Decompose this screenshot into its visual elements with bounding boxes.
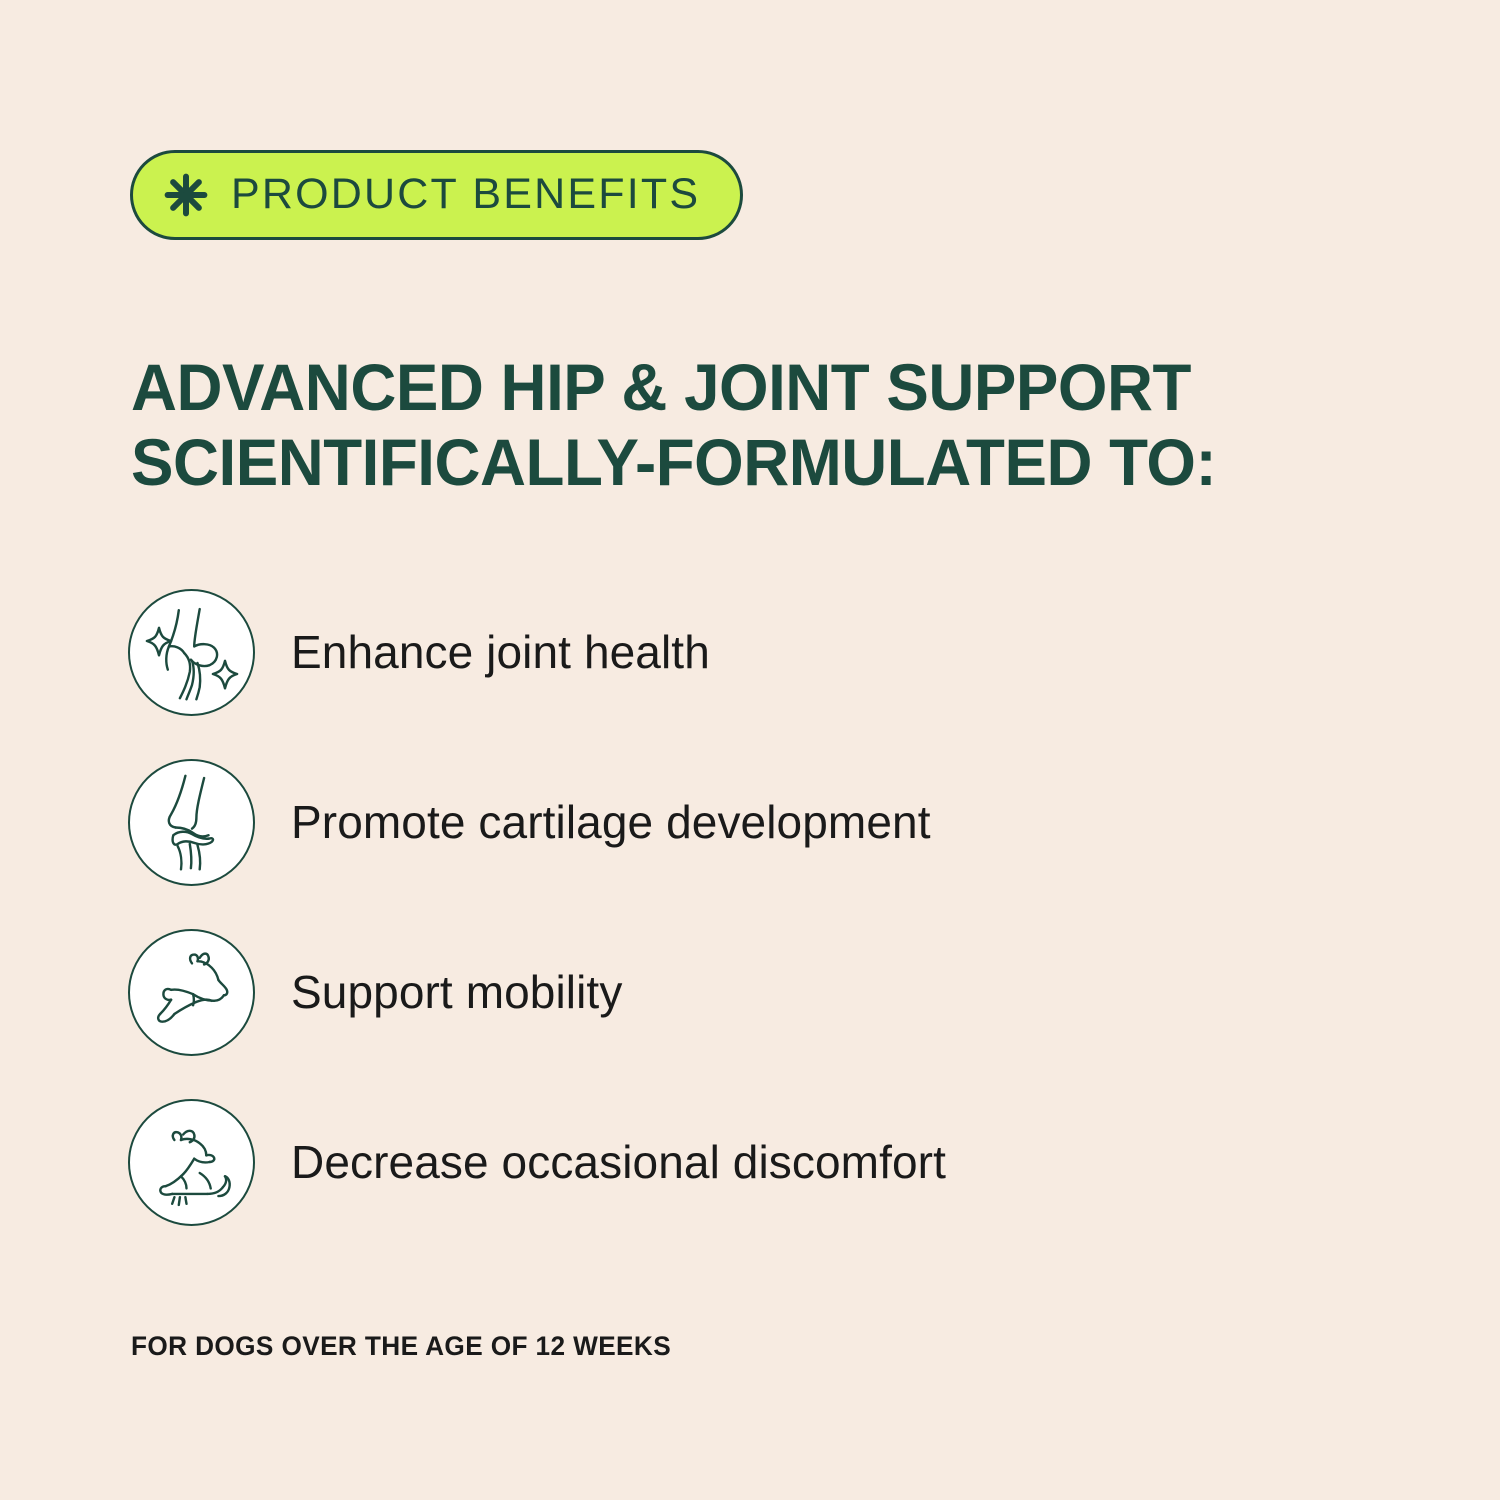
benefit-label: Support mobility: [291, 967, 622, 1018]
joint-sparkle-icon: [137, 597, 247, 707]
benefit-icon-frame: [128, 929, 255, 1056]
age-requirement-note: FOR DOGS OVER THE AGE OF 12 WEEKS: [131, 1331, 671, 1362]
benefit-icon-frame: [128, 759, 255, 886]
headline-line-1: ADVANCED HIP & JOINT SUPPORT: [131, 350, 1357, 425]
benefit-label: Promote cartilage development: [291, 797, 931, 848]
product-benefits-panel: PRODUCT BENEFITS ADVANCED HIP & JOINT SU…: [0, 0, 1500, 1500]
benefit-label: Decrease occasional discomfort: [291, 1137, 946, 1188]
badge-label: PRODUCT BENEFITS: [231, 173, 700, 218]
resting-dog-icon: [137, 1107, 247, 1217]
asterisk-icon: [163, 172, 209, 218]
benefit-item-promote-cartilage-development: Promote cartilage development: [128, 737, 1328, 907]
page-title: ADVANCED HIP & JOINT SUPPORT SCIENTIFICA…: [131, 350, 1357, 500]
benefit-label: Enhance joint health: [291, 627, 710, 678]
benefit-icon-frame: [128, 1099, 255, 1226]
leaping-dog-icon: [137, 937, 247, 1047]
benefit-item-enhance-joint-health: Enhance joint health: [128, 567, 1328, 737]
cartilage-joint-icon: [137, 767, 247, 877]
benefit-item-decrease-occasional-discomfort: Decrease occasional discomfort: [128, 1077, 1328, 1247]
benefit-list: Enhance joint health Promote cartilage: [128, 567, 1328, 1247]
benefit-icon-frame: [128, 589, 255, 716]
benefit-item-support-mobility: Support mobility: [128, 907, 1328, 1077]
headline-line-2: SCIENTIFICALLY-FORMULATED TO:: [131, 425, 1357, 500]
product-benefits-badge: PRODUCT BENEFITS: [130, 150, 743, 240]
